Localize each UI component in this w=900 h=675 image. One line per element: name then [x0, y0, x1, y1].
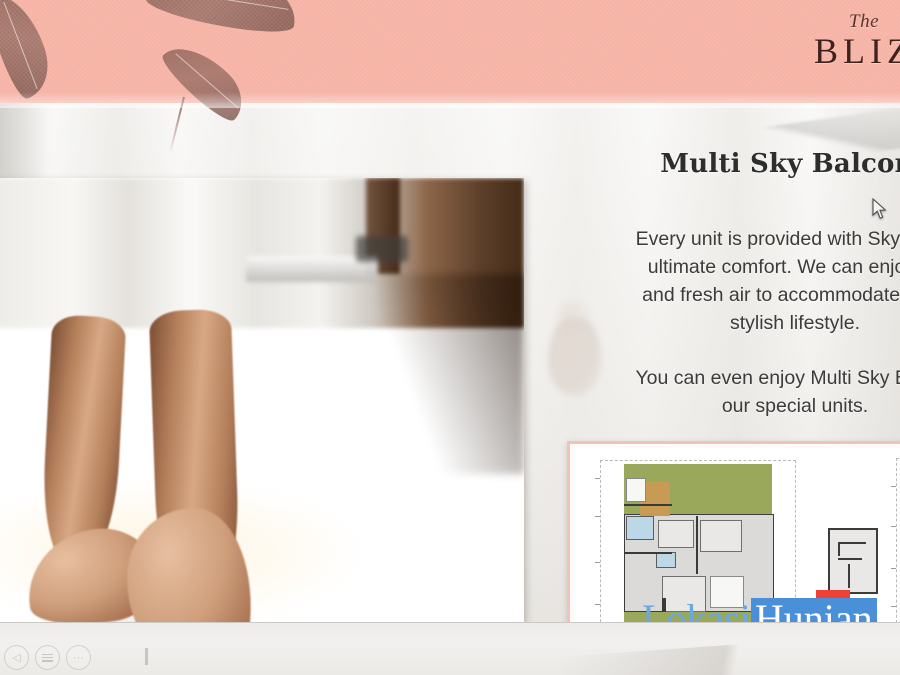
floorplan-left-tick-1 [595, 478, 600, 479]
slide-paragraph-1-line-1: Every unit is provided with Sky Balco [636, 228, 900, 250]
floorplan-left-bath-b [656, 552, 676, 568]
hero-photo-dark-object [356, 236, 408, 262]
slide-body-text: Every unit is provided with Sky Balco ul… [560, 225, 900, 420]
slide-paragraph-1: Every unit is provided with Sky Balco ul… [560, 225, 900, 337]
floorplan-center-wall-d [838, 558, 862, 560]
ellipsis-icon: ··· [73, 652, 84, 664]
previous-slide-button[interactable]: ◁ [4, 645, 29, 670]
floorplan-right-tick-1 [891, 486, 896, 487]
floorplan-left-bath-a [626, 516, 654, 540]
floorplan-right-tick-3 [891, 568, 896, 569]
floorplan-center-wall-a [838, 542, 866, 544]
slideshow-controls[interactable]: ◁ ··· [4, 645, 91, 670]
floorplan-left-tick-2 [595, 516, 600, 517]
brand-logo: The BLIZ [814, 12, 900, 69]
floorplan-panel-inner: Lokasi Hunian [574, 448, 900, 644]
floorplan-left-tick-3 [595, 562, 600, 563]
brand-logo-name: BLIZ [814, 33, 900, 69]
menu-button[interactable] [35, 645, 60, 670]
floorplan-right-tick-2 [891, 526, 896, 527]
floorplan-left-tick-4 [595, 604, 600, 605]
slide-paragraph-2-line-2: our special units. [722, 395, 868, 417]
floorplan-left-wall-a [624, 552, 672, 554]
floorplan-unit-right [896, 456, 900, 642]
slide-paragraph-2-line-1: You can even enjoy Multi Sky Balcon [635, 367, 900, 389]
slide-paragraph-1-line-2: ultimate comfort. We can enjoy na [648, 256, 900, 278]
hero-photo-frame [0, 178, 524, 622]
banner-bottom-haze [0, 92, 900, 108]
floorplan-center-wall-b [838, 542, 840, 556]
presentation-slide: The BLIZ Multi Sky Balcon Every unit is … [0, 0, 900, 675]
brand-logo-prefix: The [814, 12, 900, 31]
slide-paragraph-1-line-4: stylish lifestyle. [730, 312, 860, 334]
slide-paragraph-1-line-3: and fresh air to accommodate healt [642, 284, 900, 306]
floorplan-left-room-c [700, 520, 742, 552]
more-options-button[interactable]: ··· [66, 645, 91, 670]
header-banner [0, 0, 900, 103]
page-title: Multi Sky Balcon [638, 150, 900, 179]
floorplan-right-tick-4 [891, 606, 896, 607]
slide-paragraph-2: You can even enjoy Multi Sky Balcon our … [560, 364, 900, 420]
floorplan-center-wall-c [848, 564, 850, 588]
bottom-strip-divider [0, 622, 900, 623]
floorplan-unit-center [822, 524, 886, 598]
feather-icon-top-center [144, 0, 302, 41]
scroll-indicator [145, 648, 148, 665]
floorplan-dimension-frame-right [896, 458, 900, 638]
floorplan-center-outline [828, 528, 878, 594]
floorplan-panel[interactable]: Lokasi Hunian [567, 441, 900, 651]
feather-icon-top-left [0, 0, 58, 102]
hamburger-icon [42, 654, 53, 662]
floorplan-left-wall-b [696, 516, 698, 574]
floorplan-left-room-b [658, 520, 694, 548]
slide-text-column: Multi Sky Balcon Every unit is provided … [536, 150, 900, 420]
floorplan-left-wall-c [624, 504, 672, 506]
hero-photo-right-shade [374, 274, 524, 474]
floorplan-left-room-a [626, 478, 646, 502]
